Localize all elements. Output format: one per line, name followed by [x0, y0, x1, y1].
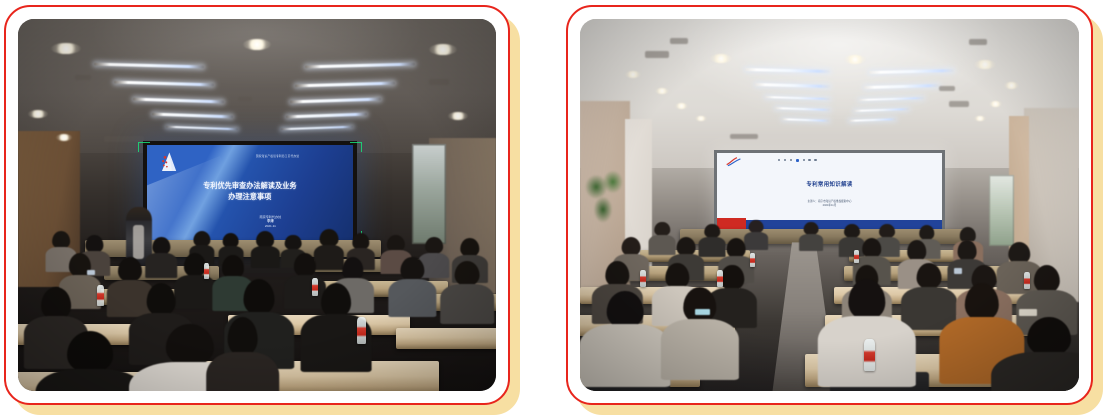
audience-person-hoodie — [825, 279, 910, 387]
ceiling-vent — [429, 79, 449, 85]
smartphone — [954, 268, 962, 274]
audience-person — [209, 317, 276, 391]
audience-person — [42, 331, 138, 391]
downlight-icon — [695, 116, 707, 121]
water-bottle — [640, 270, 646, 287]
toolbar-icon — [790, 159, 792, 161]
photo-card-right[interactable]: 专利常用知识解读 主讲人：南京市知识产权维权援助中心 2021年11月 — [566, 5, 1103, 415]
downlight-icon — [974, 60, 996, 69]
audience-person — [443, 261, 491, 324]
slide-title-left: 专利优先审查办法解读及业务 办理注意事项 — [155, 180, 344, 202]
toolbar-icon-active — [796, 159, 799, 162]
toolbar-icon — [803, 159, 805, 161]
ceiling-vent — [238, 97, 252, 101]
slide-title-right: 专利常用知识解读 — [731, 180, 929, 188]
desk-row — [396, 328, 496, 349]
audience-person — [800, 222, 822, 252]
toolbar-icon — [784, 159, 786, 161]
water-bottle — [717, 270, 723, 287]
slide-title-line-2: 办理注意事项 — [155, 191, 344, 202]
toolbar-icon — [778, 159, 780, 161]
slide-subtitle-line-2: 2021年11月 — [740, 204, 920, 208]
water-bottle — [864, 339, 875, 371]
window-left-photo — [412, 144, 445, 244]
water-bottle — [97, 285, 104, 306]
photo-frame-border-left: 国家知识产权局专利局江苏代办处 专利优先审查办法解读及业务 办理注意事项 南京专… — [4, 5, 510, 405]
audience-person — [665, 287, 735, 380]
window-right-photo — [989, 175, 1014, 246]
audience-person — [999, 317, 1079, 391]
water-bottle — [204, 263, 209, 279]
notebook-paper — [695, 309, 710, 315]
photo-image-right: 专利常用知识解读 主讲人：南京市知识产权维权援助中心 2021年11月 — [580, 19, 1079, 391]
water-bottle — [1024, 272, 1030, 289]
ceiling-right — [580, 19, 1079, 168]
downlight-icon — [974, 116, 986, 121]
audience-person — [252, 231, 278, 268]
screen-corner-mark-icon — [138, 142, 150, 152]
lecture-hall-scene-right: 专利常用知识解读 主讲人：南京市知识产权维权援助中心 2021年11月 — [580, 19, 1079, 391]
lecture-hall-scene-left: 国家知识产权局专利局江苏代办处 专利优先审查办法解读及业务 办理注意事项 南京专… — [18, 19, 496, 391]
projection-screen-left: 国家知识产权局专利局江苏代办处 专利优先审查办法解读及业务 办理注意事项 南京专… — [147, 145, 353, 240]
audience-person — [585, 291, 665, 388]
ceiling-vent — [949, 101, 969, 107]
downlight-icon — [655, 88, 669, 94]
slide-toolbar-icons — [778, 157, 868, 164]
ribbon-logo-icon — [724, 156, 744, 167]
photo-image-left: 国家知识产权局专利局江苏代办处 专利优先审查办法解读及业务 办理注意事项 南京专… — [18, 19, 496, 391]
cnipa-logo-icon — [156, 150, 183, 175]
downlight-icon — [989, 101, 1002, 107]
slide-header-left: 国家知识产权局专利局江苏代办处 — [213, 154, 343, 158]
audience-person — [391, 257, 434, 317]
ceiling-vent — [939, 86, 955, 91]
ceiling-vent — [969, 39, 987, 45]
photo-card-left[interactable]: 国家知识产权局专利局江苏代办处 专利优先审查办法解读及业务 办理注意事项 南京专… — [4, 5, 520, 415]
toolbar-icon — [814, 159, 816, 161]
photo-gallery: 国家知识产权局专利局江苏代办处 专利优先审查办法解读及业务 办理注意事项 南京专… — [0, 0, 1107, 420]
slide-footer-left: 南京专利代办处 李津 2021.11 — [209, 215, 332, 229]
downlight-icon — [625, 71, 641, 78]
water-bottle — [357, 317, 366, 344]
downlight-icon — [28, 110, 48, 118]
ceiling-vent — [75, 75, 91, 80]
smartphone — [87, 270, 95, 275]
slide-subtitle-right: 主讲人：南京市知识产权维权援助中心 2021年11月 — [740, 200, 920, 209]
water-bottle — [312, 278, 318, 296]
notebook-paper — [1019, 309, 1037, 316]
ceiling-projector — [730, 134, 758, 139]
ceiling-vent — [670, 38, 688, 44]
potted-plant — [585, 168, 630, 231]
toolbar-icon — [808, 159, 810, 161]
water-bottle — [854, 250, 859, 263]
slide-title-line-1: 专利优先审查办法解读及业务 — [155, 180, 344, 191]
ceiling-vent — [645, 51, 669, 58]
downlight-icon — [675, 103, 688, 109]
water-bottle — [750, 253, 755, 267]
photo-frame-border-right: 专利常用知识解读 主讲人：南京市知识产权维权援助中心 2021年11月 — [566, 5, 1093, 405]
screen-corner-mark-icon — [350, 142, 362, 152]
